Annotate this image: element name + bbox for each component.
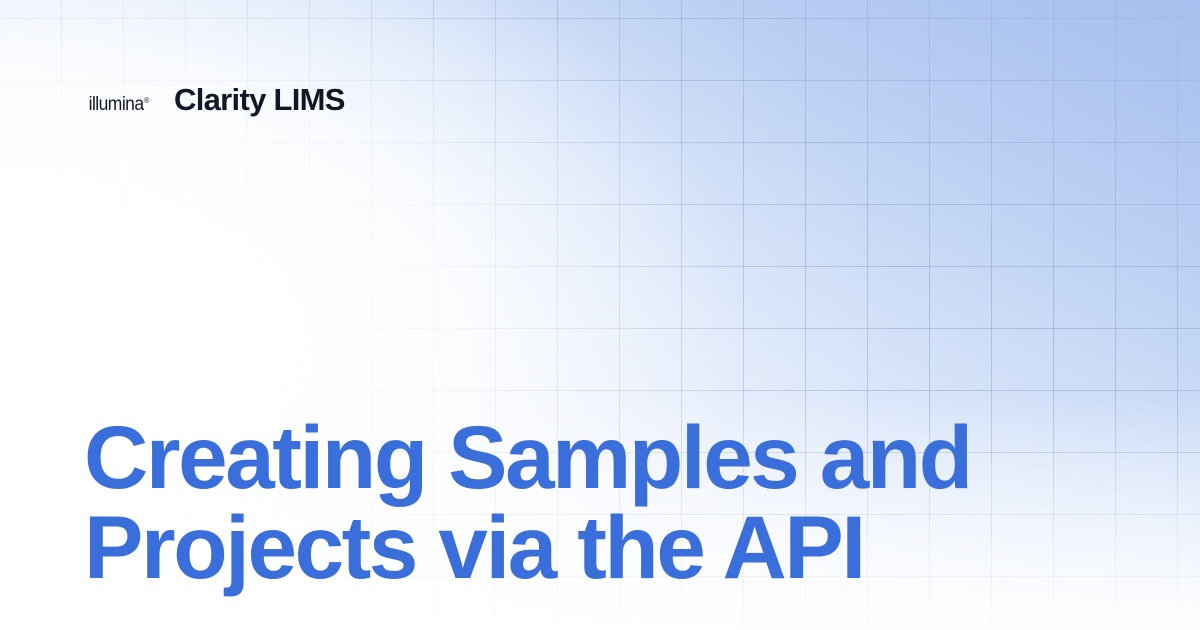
illumina-wordmark-text: illumina	[89, 94, 144, 115]
page-title-line-2: Projects via the API	[84, 502, 1144, 592]
social-card: illumina® Clarity LIMS Creating Samples …	[0, 0, 1200, 630]
page-title-line-1: Creating Samples and	[84, 412, 1144, 502]
brand-lockup: illumina® Clarity LIMS	[86, 84, 345, 115]
registered-trademark-icon: ®	[144, 96, 149, 105]
product-name: Clarity LIMS	[174, 84, 345, 115]
illumina-logo: illumina®	[89, 95, 150, 114]
page-title: Creating Samples and Projects via the AP…	[84, 412, 1144, 593]
card-content: illumina® Clarity LIMS Creating Samples …	[0, 0, 1200, 630]
